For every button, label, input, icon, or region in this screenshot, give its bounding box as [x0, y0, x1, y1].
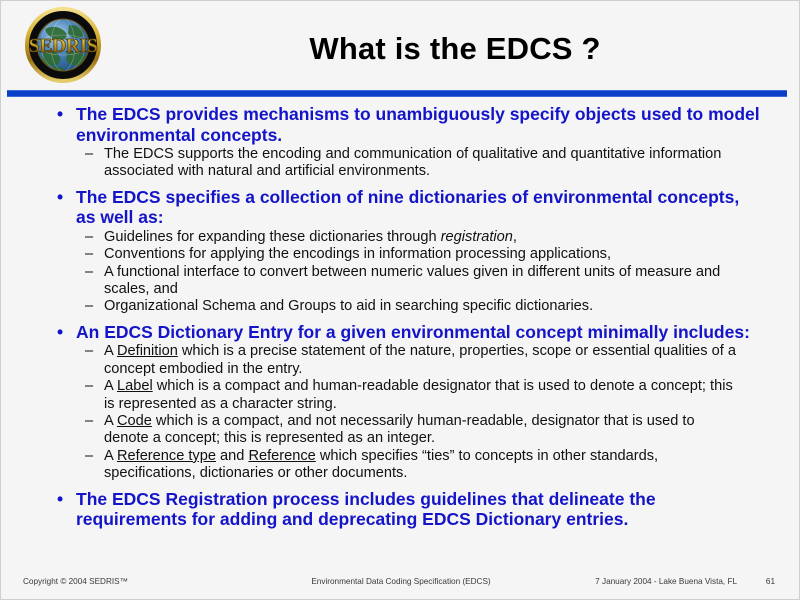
bullet-marker-icon: •	[57, 489, 63, 510]
bullet-level1-text: An EDCS Dictionary Entry for a given env…	[76, 322, 763, 343]
subbullet-list: –A Definition which is a precise stateme…	[76, 343, 763, 482]
bullet-level2-text: Organizational Schema and Groups to aid …	[104, 298, 743, 315]
subbullet-list: –The EDCS supports the encoding and comm…	[76, 146, 763, 181]
subbullet-marker-icon: –	[85, 413, 93, 430]
bullet-level2: –The EDCS supports the encoding and comm…	[76, 146, 763, 181]
bullet-level1: •The EDCS provides mechanisms to unambig…	[1, 104, 800, 181]
bullet-level2-text: Conventions for applying the encodings i…	[104, 246, 743, 263]
bullet-level2-text: A functional interface to convert betwee…	[104, 264, 743, 299]
svg-text:SEDRIS: SEDRIS	[29, 35, 98, 57]
slide-header: SEDRIS What is the EDCS ?	[1, 1, 799, 89]
bullet-level2-text: The EDCS supports the encoding and commu…	[104, 146, 743, 181]
subbullet-marker-icon: –	[85, 448, 93, 465]
bullet-level1: •An EDCS Dictionary Entry for a given en…	[1, 322, 800, 483]
subbullet-marker-icon: –	[85, 378, 93, 395]
bullet-level2-text: A Code which is a compact, and not neces…	[104, 413, 743, 448]
subbullet-list: –Guidelines for expanding these dictiona…	[76, 229, 763, 316]
subbullet-marker-icon: –	[85, 343, 93, 360]
bullet-level2: –A Label which is a compact and human-re…	[76, 378, 763, 413]
bullet-level2: –Organizational Schema and Groups to aid…	[76, 298, 763, 315]
slide: SEDRIS What is the EDCS ? •The EDCS prov…	[0, 0, 800, 600]
footer-event: 7 January 2004 - Lake Buena Vista, FL	[595, 577, 737, 586]
title-divider	[7, 90, 787, 97]
bullet-level2-text: A Reference type and Reference which spe…	[104, 448, 743, 483]
sedris-logo-icon: SEDRIS	[17, 7, 109, 85]
bullet-level2: –A Code which is a compact, and not nece…	[76, 413, 763, 448]
bullet-marker-icon: •	[57, 322, 63, 343]
bullet-level2: –A functional interface to convert betwe…	[76, 264, 763, 299]
subbullet-marker-icon: –	[85, 146, 93, 163]
bullet-level2-text: A Label which is a compact and human-rea…	[104, 378, 743, 413]
bullet-level2: –A Definition which is a precise stateme…	[76, 343, 763, 378]
slide-body: •The EDCS provides mechanisms to unambig…	[1, 104, 800, 531]
bullet-level2: –Conventions for applying the encodings …	[76, 246, 763, 263]
bullet-level1-text: The EDCS provides mechanisms to unambigu…	[76, 104, 763, 145]
bullet-level1-text: The EDCS specifies a collection of nine …	[76, 187, 763, 228]
bullet-level2-text: Guidelines for expanding these dictionar…	[104, 229, 743, 246]
page-title: What is the EDCS ?	[121, 31, 789, 67]
subbullet-marker-icon: –	[85, 298, 93, 315]
bullet-level1: •The EDCS Registration process includes …	[1, 489, 800, 530]
bullet-level1-text: The EDCS Registration process includes g…	[76, 489, 763, 530]
footer-page-number: 61	[766, 577, 775, 586]
subbullet-marker-icon: –	[85, 246, 93, 263]
subbullet-marker-icon: –	[85, 229, 93, 246]
bullet-level1: •The EDCS specifies a collection of nine…	[1, 187, 800, 316]
bullet-level2: –Guidelines for expanding these dictiona…	[76, 229, 763, 246]
bullet-level2-text: A Definition which is a precise statemen…	[104, 343, 743, 378]
bullet-marker-icon: •	[57, 104, 63, 125]
bullet-marker-icon: •	[57, 187, 63, 208]
bullet-list: •The EDCS provides mechanisms to unambig…	[1, 104, 800, 530]
bullet-level2: –A Reference type and Reference which sp…	[76, 448, 763, 483]
slide-footer: Copyright © 2004 SEDRIS™ Environmental D…	[1, 577, 800, 591]
subbullet-marker-icon: –	[85, 264, 93, 281]
